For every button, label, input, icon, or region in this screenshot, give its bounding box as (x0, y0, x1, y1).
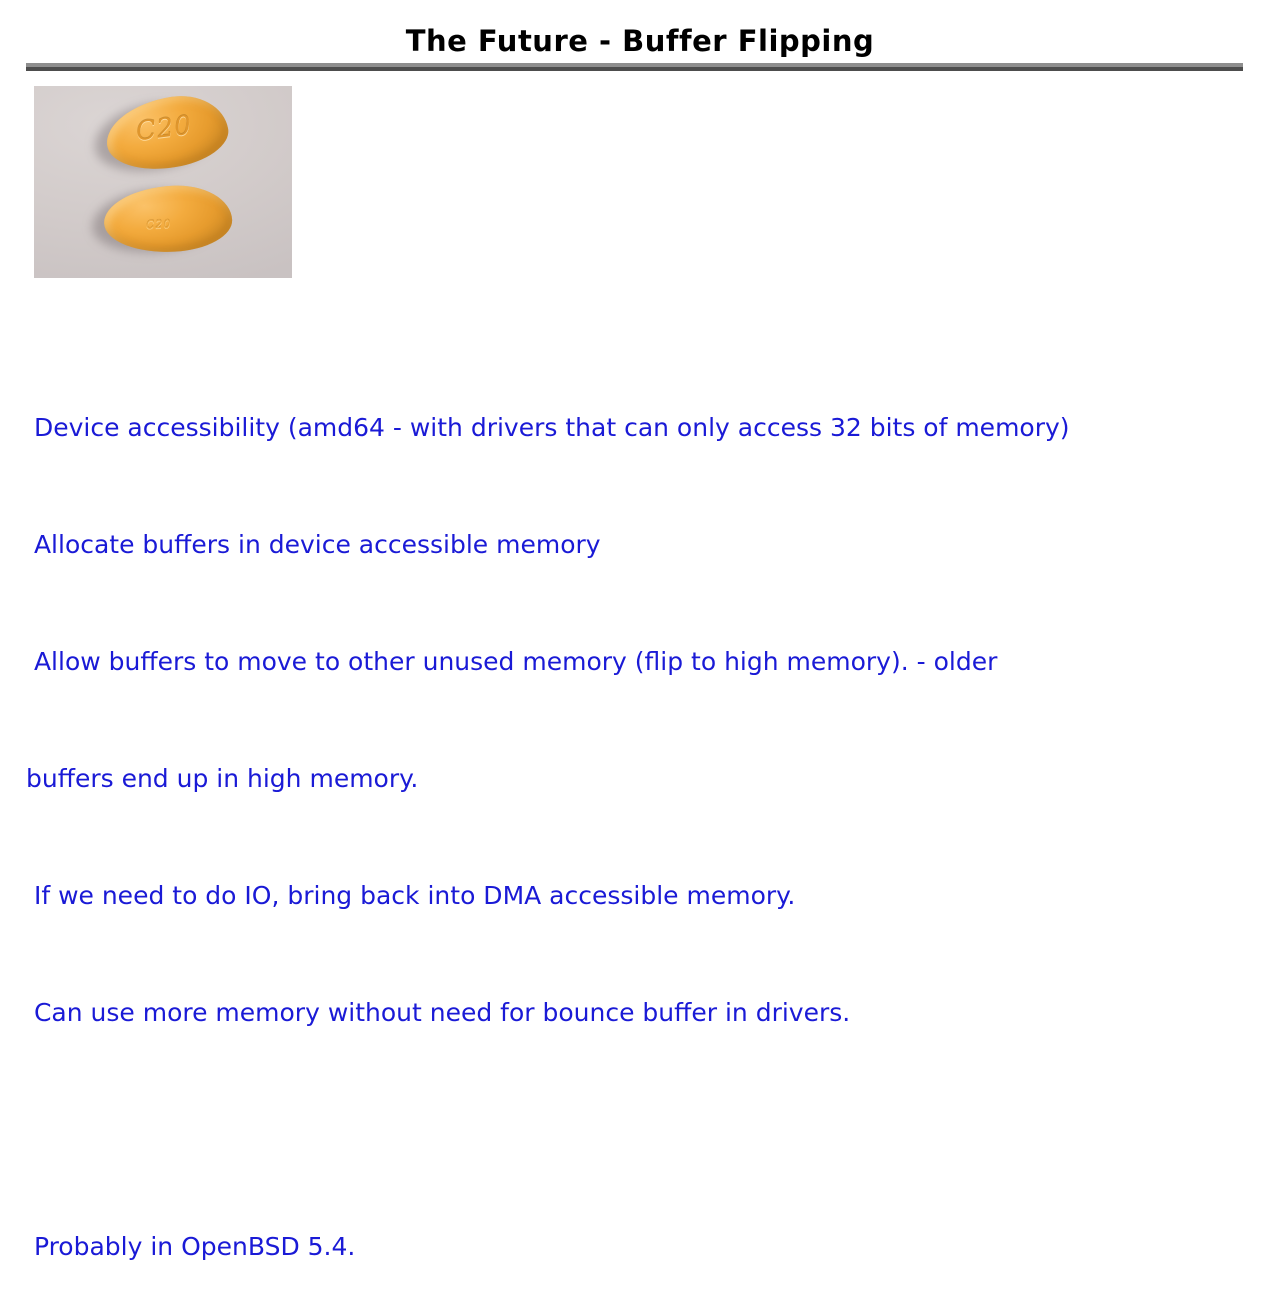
title-divider-dark-band (26, 67, 1243, 71)
body-line-4: buffers end up in high memory. (26, 759, 1256, 798)
page-title: The Future - Buffer Flipping (0, 26, 1280, 56)
body-line-1: Device accessibility (amd64 - with drive… (26, 408, 1256, 447)
body-line-blank (26, 1110, 1256, 1149)
body-line-2: Allocate buffers in device accessible me… (26, 525, 1256, 564)
body-line-6: Can use more memory without need for bou… (26, 993, 1256, 1032)
title-divider (26, 63, 1243, 71)
body-line-3: Allow buffers to move to other unused me… (26, 642, 1256, 681)
body-line-5: If we need to do IO, bring back into DMA… (26, 876, 1256, 915)
slide-body: Device accessibility (amd64 - with drive… (26, 330, 1256, 1305)
pill-photo-image: C20 C20 (34, 86, 292, 278)
body-line-8: Probably in OpenBSD 5.4. (26, 1227, 1256, 1266)
